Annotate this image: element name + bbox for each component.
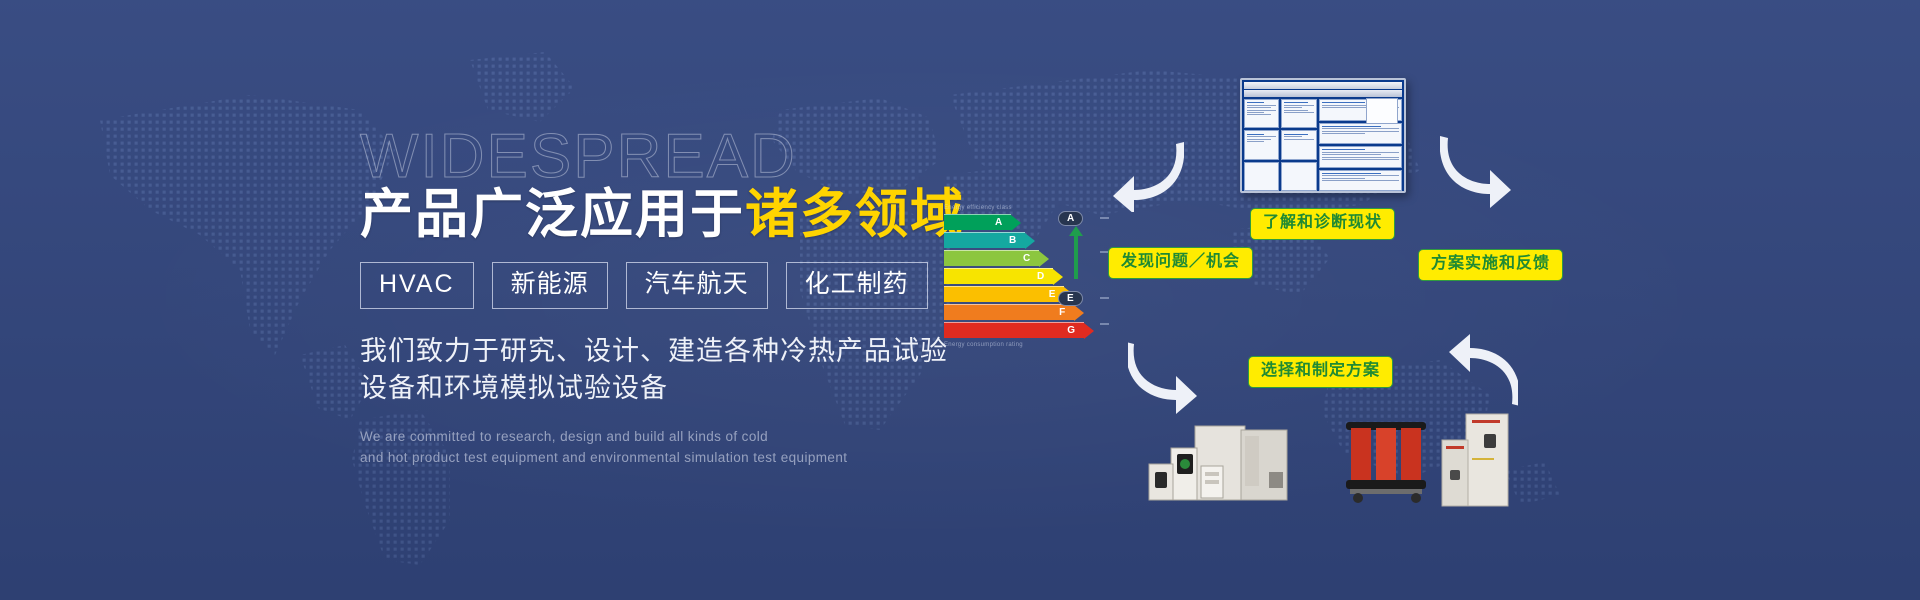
window-panel: [1319, 123, 1402, 145]
energy-label-caption-bottom: Energy consumption rating: [944, 342, 1084, 348]
callout-implement[interactable]: 方案实施和反馈: [1418, 249, 1563, 281]
window-left-column: [1244, 99, 1317, 191]
energy-bar-label: C: [1023, 253, 1030, 264]
energy-bar-label: G: [1067, 325, 1075, 336]
window-panel-row: [1244, 162, 1317, 191]
equipment-cabinet-photo: [1440, 412, 1510, 507]
window-panel: [1244, 130, 1279, 159]
window-panel: [1244, 99, 1279, 128]
equipment-drives-photo: [1145, 420, 1305, 510]
arrow-top-right-icon: [1440, 128, 1512, 208]
scale-tick: [1100, 323, 1109, 325]
equipment-reactor-photo: [1340, 412, 1435, 504]
energy-bar-label: D: [1037, 271, 1044, 282]
energy-bar-row: F: [944, 304, 1084, 320]
window-dropdown-menu: [1366, 98, 1398, 124]
energy-bar-label: A: [995, 217, 1002, 228]
improvement-arrow-icon: [1074, 235, 1078, 279]
window-panel: [1319, 146, 1402, 168]
energy-bar-a: A: [944, 214, 1011, 230]
scale-tick: [1100, 297, 1109, 299]
window-titlebar: [1244, 82, 1402, 89]
callout-select[interactable]: 选择和制定方案: [1248, 356, 1393, 388]
energy-bar-label: E: [1049, 289, 1056, 300]
rating-pill-bottom: E: [1058, 291, 1083, 306]
energy-bar-c: C: [944, 250, 1039, 266]
window-panel: [1281, 99, 1316, 128]
window-panel: [1281, 130, 1316, 159]
energy-bar-b: B: [944, 232, 1025, 248]
hero-banner: WIDESPREAD 产品广泛应用于诸多领域 HVAC 新能源 汽车航天 化工制…: [0, 0, 1920, 600]
energy-bar-label: F: [1059, 307, 1065, 318]
window-panel-row: [1244, 130, 1317, 159]
callout-diagnose[interactable]: 了解和诊断现状: [1250, 208, 1395, 240]
window-toolbar: [1244, 90, 1402, 97]
window-panel: [1319, 170, 1402, 192]
arrow-top-left-icon: [1112, 134, 1184, 212]
energy-bar-label: B: [1009, 235, 1016, 246]
arrow-bottom-right-icon: [1448, 330, 1518, 410]
energy-bar-d: D: [944, 268, 1053, 284]
rating-pill-top: A: [1058, 211, 1083, 226]
energy-bar-e: E: [944, 286, 1064, 302]
window-panel: [1244, 162, 1279, 191]
window-panel-row: [1244, 99, 1317, 128]
process-cycle-diagram: Energy efficiency class ABCDEFG Energy c…: [0, 0, 1920, 600]
software-screenshot: [1240, 78, 1406, 193]
window-panel: [1281, 162, 1316, 191]
callout-discover[interactable]: 发现问题／机会: [1108, 247, 1253, 279]
scale-tick: [1100, 217, 1109, 219]
arrow-bottom-left-icon: [1128, 338, 1198, 416]
